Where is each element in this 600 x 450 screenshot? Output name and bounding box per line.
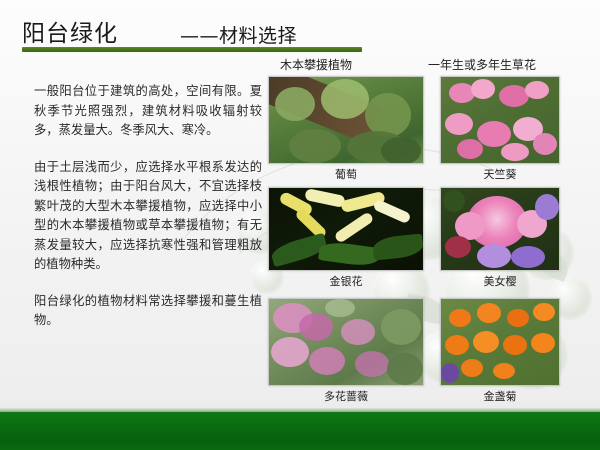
- caption-honeysuckle: 金银花: [268, 273, 424, 289]
- photo-geranium: [440, 76, 560, 164]
- gallery-item-honeysuckle[interactable]: 金银花: [268, 187, 424, 289]
- page-title: 阳台绿化: [22, 14, 118, 48]
- photo-honeysuckle: [268, 187, 424, 271]
- photo-art: [269, 77, 423, 163]
- photo-art: [441, 77, 559, 163]
- photo-art: [441, 188, 559, 270]
- body-text: 一般阳台位于建筑的高处，空间有限。夏秋季节光照强烈，建筑材料吸收辐射较多，蒸发量…: [34, 82, 262, 331]
- photo-art: [269, 188, 423, 270]
- gallery-item-calendula[interactable]: 金盏菊: [440, 298, 560, 404]
- caption-verbena: 美女樱: [440, 273, 560, 289]
- photo-art: [441, 299, 559, 385]
- photo-grape: [268, 76, 424, 164]
- photo-verbena: [440, 187, 560, 271]
- caption-geranium: 天竺葵: [440, 166, 560, 182]
- plant-gallery: 木本攀援植物 一年生或多年生草花 葡萄: [268, 56, 594, 401]
- caption-calendula: 金盏菊: [440, 388, 560, 404]
- paragraph-3: 阳台绿化的植物材料常选择攀援和蔓生植物。: [34, 292, 262, 331]
- slide-title: 阳台绿化 ——材料选择: [22, 14, 582, 48]
- photo-calendula: [440, 298, 560, 386]
- slide-canvas: 阳台绿化 ——材料选择 一般阳台位于建筑的高处，空间有限。夏秋季节光照强烈，建筑…: [0, 0, 600, 450]
- paragraph-2: 由于土层浅而少，应选择水平根系发达的浅根性植物；由于阳台风大，不宜选择枝繁叶茂的…: [34, 158, 262, 275]
- caption-grape: 葡萄: [268, 166, 424, 182]
- photo-multiflora-rose: [268, 298, 424, 386]
- gallery-item-geranium[interactable]: 天竺葵: [440, 76, 560, 182]
- photo-art: [269, 299, 423, 385]
- gallery-item-grape[interactable]: 葡萄: [268, 76, 424, 182]
- gallery-item-multiflora-rose[interactable]: 多花蔷薇: [268, 298, 424, 404]
- title-underline: [22, 47, 362, 52]
- caption-multiflora-rose: 多花蔷薇: [268, 388, 424, 404]
- column-header-herbaceous-flowers: 一年生或多年生草花: [428, 56, 536, 73]
- gallery-item-verbena[interactable]: 美女樱: [440, 187, 560, 289]
- footer-band: [0, 412, 600, 450]
- column-header-woody-vines: 木本攀援植物: [280, 56, 352, 73]
- paragraph-1: 一般阳台位于建筑的高处，空间有限。夏秋季节光照强烈，建筑材料吸收辐射较多，蒸发量…: [34, 82, 262, 141]
- page-subtitle: ——材料选择: [180, 21, 297, 48]
